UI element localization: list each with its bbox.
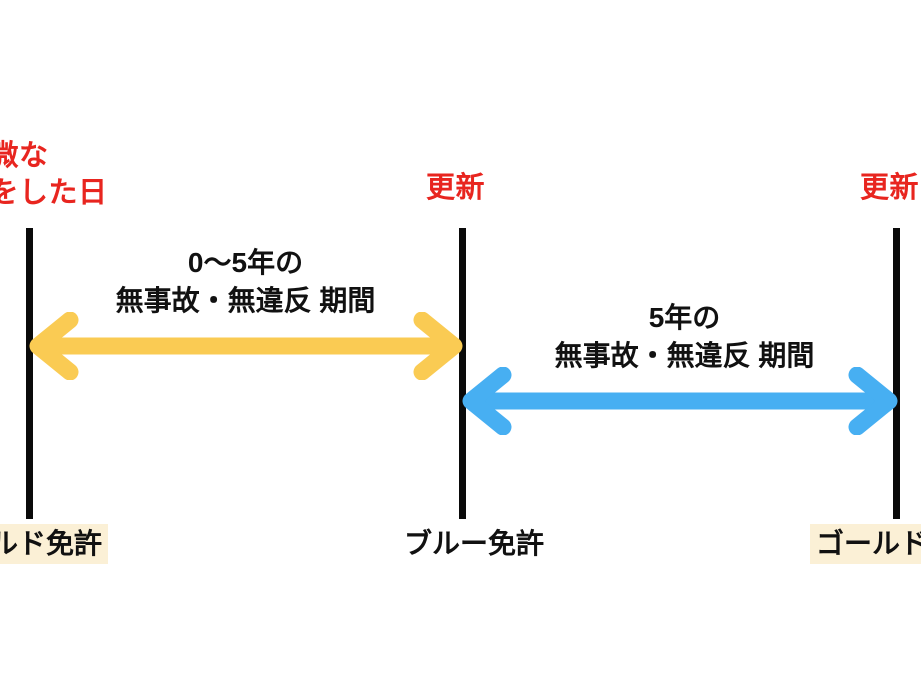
milestone-label-left-line2: 反をした日: [0, 177, 108, 209]
license-label-right: ゴールド免: [810, 524, 921, 564]
double-arrow-icon: [457, 367, 903, 435]
period-description-first: 0〜5年の 無事故・無違反 期間: [78, 244, 413, 320]
double-arrow-icon: [24, 312, 468, 380]
milestone-label-left: 軽微な 反をした日: [0, 138, 108, 212]
period-arrow-gold: [24, 312, 468, 380]
license-label-left: ールド免許: [0, 524, 108, 564]
period-description-second: 5年の 無事故・無違反 期間: [517, 299, 852, 375]
milestone-label-left-line1: 軽微な: [0, 140, 49, 172]
milestone-label-middle: 更新: [426, 170, 485, 207]
period-second-line1: 5年の: [517, 299, 852, 337]
license-label-middle: ブルー免許: [398, 524, 550, 564]
period-first-line1: 0〜5年の: [78, 244, 413, 282]
diagram-canvas: 軽微な 反をした日 更新 更新 0〜5年の 無事故・無違反 期間 5年の 無事故…: [0, 0, 921, 691]
milestone-label-right: 更新: [860, 170, 919, 207]
period-arrow-blue: [457, 367, 903, 435]
